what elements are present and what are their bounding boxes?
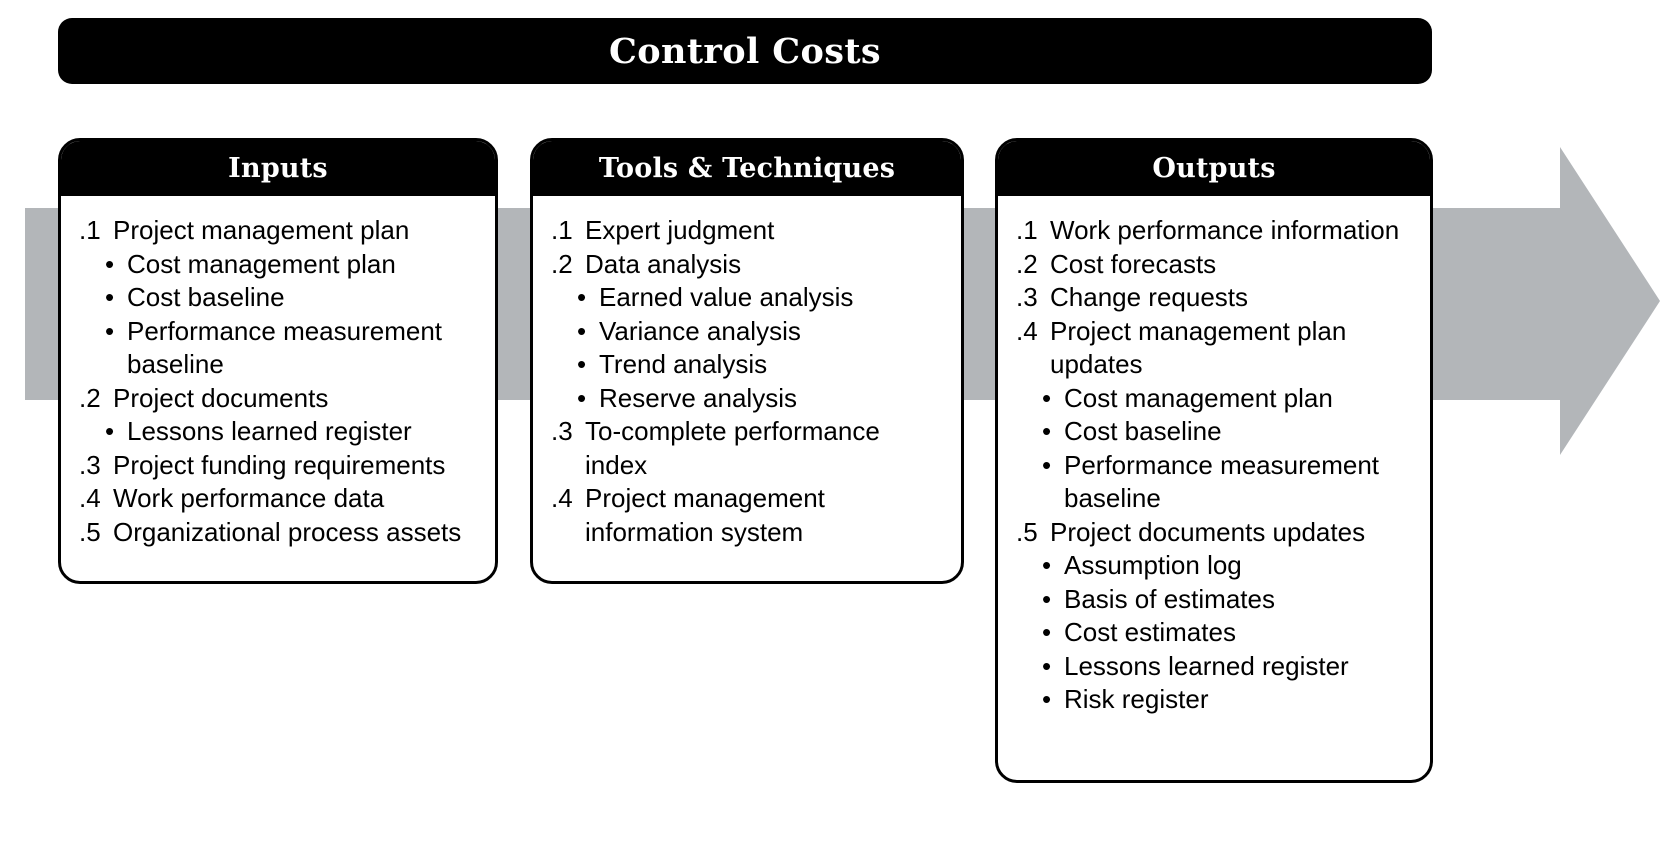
item-label: Project funding requirements bbox=[113, 449, 483, 483]
sub-item-label: Lessons learned register bbox=[127, 415, 483, 449]
item-label: Project management information system bbox=[585, 482, 949, 549]
list-item: • Lessons learned register bbox=[79, 415, 483, 449]
sub-item-label: Basis of estimates bbox=[1064, 583, 1418, 617]
sub-item-label: Risk register bbox=[1064, 683, 1418, 717]
list-item: • Risk register bbox=[1016, 683, 1418, 717]
list-item: .4 Work performance data bbox=[79, 482, 483, 516]
column-header-inputs: Inputs bbox=[60, 140, 496, 196]
sub-list: • Cost management plan • Cost baseline •… bbox=[79, 248, 483, 382]
column-header-label-inputs: Inputs bbox=[228, 155, 328, 182]
list-item: .2 Data analysis bbox=[551, 248, 949, 282]
bullet-icon: • bbox=[105, 281, 127, 315]
item-marker: .3 bbox=[79, 449, 113, 483]
sub-item-label: Cost baseline bbox=[127, 281, 483, 315]
sub-list: • Lessons learned register bbox=[79, 415, 483, 449]
page-title: Control Costs bbox=[609, 34, 881, 69]
list-item: • Basis of estimates bbox=[1016, 583, 1418, 617]
bullet-icon: • bbox=[1042, 382, 1064, 416]
bullet-icon: • bbox=[105, 248, 127, 282]
tools-techniques-list: .1 Expert judgment .2 Data analysis • Ea… bbox=[551, 214, 949, 549]
sub-item-label: Reserve analysis bbox=[599, 382, 949, 416]
bullet-icon: • bbox=[577, 348, 599, 382]
list-item: • Cost management plan bbox=[79, 248, 483, 282]
sub-item-label: Cost management plan bbox=[1064, 382, 1418, 416]
sub-item-label: Cost management plan bbox=[127, 248, 483, 282]
bullet-icon: • bbox=[1042, 583, 1064, 617]
list-item: • Earned value analysis bbox=[551, 281, 949, 315]
item-marker: .5 bbox=[1016, 516, 1050, 550]
item-marker: .4 bbox=[551, 482, 585, 516]
list-item: • Cost management plan bbox=[1016, 382, 1418, 416]
item-marker: .2 bbox=[1016, 248, 1050, 282]
list-item: • Assumption log bbox=[1016, 549, 1418, 583]
column-header-label-outputs: Outputs bbox=[1152, 155, 1275, 182]
sub-item-label: Lessons learned register bbox=[1064, 650, 1418, 684]
sub-list: • Cost management plan • Cost baseline •… bbox=[1016, 382, 1418, 516]
diagram-title-bar: Control Costs bbox=[58, 18, 1432, 84]
bullet-icon: • bbox=[577, 315, 599, 349]
bullet-icon: • bbox=[1042, 449, 1064, 483]
item-label: To-complete performance index bbox=[585, 415, 949, 482]
list-item: • Trend analysis bbox=[551, 348, 949, 382]
outputs-list: .1 Work performance information .2 Cost … bbox=[1016, 214, 1418, 717]
bullet-icon: • bbox=[1042, 549, 1064, 583]
item-label: Expert judgment bbox=[585, 214, 949, 248]
list-item: .2 Cost forecasts bbox=[1016, 248, 1418, 282]
column-body-outputs: .1 Work performance information .2 Cost … bbox=[998, 196, 1430, 731]
list-item: .3 Project funding requirements bbox=[79, 449, 483, 483]
list-item: .1 Expert judgment bbox=[551, 214, 949, 248]
list-item: • Performance measurement baseline bbox=[79, 315, 483, 382]
bullet-icon: • bbox=[577, 281, 599, 315]
item-marker: .4 bbox=[1016, 315, 1050, 349]
item-label: Change requests bbox=[1050, 281, 1418, 315]
list-item: .1 Project management plan bbox=[79, 214, 483, 248]
item-marker: .4 bbox=[79, 482, 113, 516]
item-marker: .3 bbox=[1016, 281, 1050, 315]
sub-list: • Earned value analysis • Variance analy… bbox=[551, 281, 949, 415]
column-header-label-tools-techniques: Tools & Techniques bbox=[599, 155, 895, 182]
item-label: Data analysis bbox=[585, 248, 949, 282]
item-label: Work performance data bbox=[113, 482, 483, 516]
list-item: • Lessons learned register bbox=[1016, 650, 1418, 684]
list-item: • Cost baseline bbox=[1016, 415, 1418, 449]
list-item: • Cost estimates bbox=[1016, 616, 1418, 650]
bullet-icon: • bbox=[1042, 650, 1064, 684]
bullet-icon: • bbox=[1042, 683, 1064, 717]
list-item: • Cost baseline bbox=[79, 281, 483, 315]
list-item: .4 Project management information system bbox=[551, 482, 949, 549]
sub-item-label: Earned value analysis bbox=[599, 281, 949, 315]
item-label: Project management plan updates bbox=[1050, 315, 1418, 382]
list-item: .5 Organizational process assets bbox=[79, 516, 483, 550]
sub-item-label: Trend analysis bbox=[599, 348, 949, 382]
list-item: .4 Project management plan updates bbox=[1016, 315, 1418, 382]
column-header-outputs: Outputs bbox=[997, 140, 1431, 196]
bullet-icon: • bbox=[105, 315, 127, 349]
sub-item-label: Assumption log bbox=[1064, 549, 1418, 583]
column-header-tools-techniques: Tools & Techniques bbox=[532, 140, 962, 196]
bullet-icon: • bbox=[1042, 415, 1064, 449]
bullet-icon: • bbox=[577, 382, 599, 416]
column-tools-techniques: Tools & Techniques .1 Expert judgment .2… bbox=[530, 138, 964, 584]
inputs-list: .1 Project management plan • Cost manage… bbox=[79, 214, 483, 549]
item-marker: .1 bbox=[1016, 214, 1050, 248]
item-marker: .2 bbox=[551, 248, 585, 282]
list-item: .3 To-complete performance index bbox=[551, 415, 949, 482]
sub-item-label: Cost baseline bbox=[1064, 415, 1418, 449]
sub-item-label: Performance measurement baseline bbox=[127, 315, 483, 382]
item-label: Work performance information bbox=[1050, 214, 1418, 248]
item-marker: .3 bbox=[551, 415, 585, 449]
sub-item-label: Cost estimates bbox=[1064, 616, 1418, 650]
item-marker: .2 bbox=[79, 382, 113, 416]
item-marker: .1 bbox=[79, 214, 113, 248]
list-item: .1 Work performance information bbox=[1016, 214, 1418, 248]
bullet-icon: • bbox=[1042, 616, 1064, 650]
item-label: Project documents updates bbox=[1050, 516, 1418, 550]
sub-item-label: Variance analysis bbox=[599, 315, 949, 349]
bullet-icon: • bbox=[105, 415, 127, 449]
list-item: • Performance measurement baseline bbox=[1016, 449, 1418, 516]
column-outputs: Outputs .1 Work performance information … bbox=[995, 138, 1433, 783]
list-item: .3 Change requests bbox=[1016, 281, 1418, 315]
item-label: Project documents bbox=[113, 382, 483, 416]
diagram-canvas: Control Costs Inputs .1 Project manageme… bbox=[0, 0, 1672, 854]
list-item: • Variance analysis bbox=[551, 315, 949, 349]
column-body-tools-techniques: .1 Expert judgment .2 Data analysis • Ea… bbox=[533, 196, 961, 563]
list-item: • Reserve analysis bbox=[551, 382, 949, 416]
column-body-inputs: .1 Project management plan • Cost manage… bbox=[61, 196, 495, 563]
item-label: Organizational process assets bbox=[113, 516, 483, 550]
item-marker: .1 bbox=[551, 214, 585, 248]
item-label: Project management plan bbox=[113, 214, 483, 248]
sub-item-label: Performance measurement baseline bbox=[1064, 449, 1418, 516]
list-item: .2 Project documents bbox=[79, 382, 483, 416]
sub-list: • Assumption log • Basis of estimates • … bbox=[1016, 549, 1418, 717]
list-item: .5 Project documents updates bbox=[1016, 516, 1418, 550]
item-marker: .5 bbox=[79, 516, 113, 550]
column-inputs: Inputs .1 Project management plan • Cost… bbox=[58, 138, 498, 584]
item-label: Cost forecasts bbox=[1050, 248, 1418, 282]
